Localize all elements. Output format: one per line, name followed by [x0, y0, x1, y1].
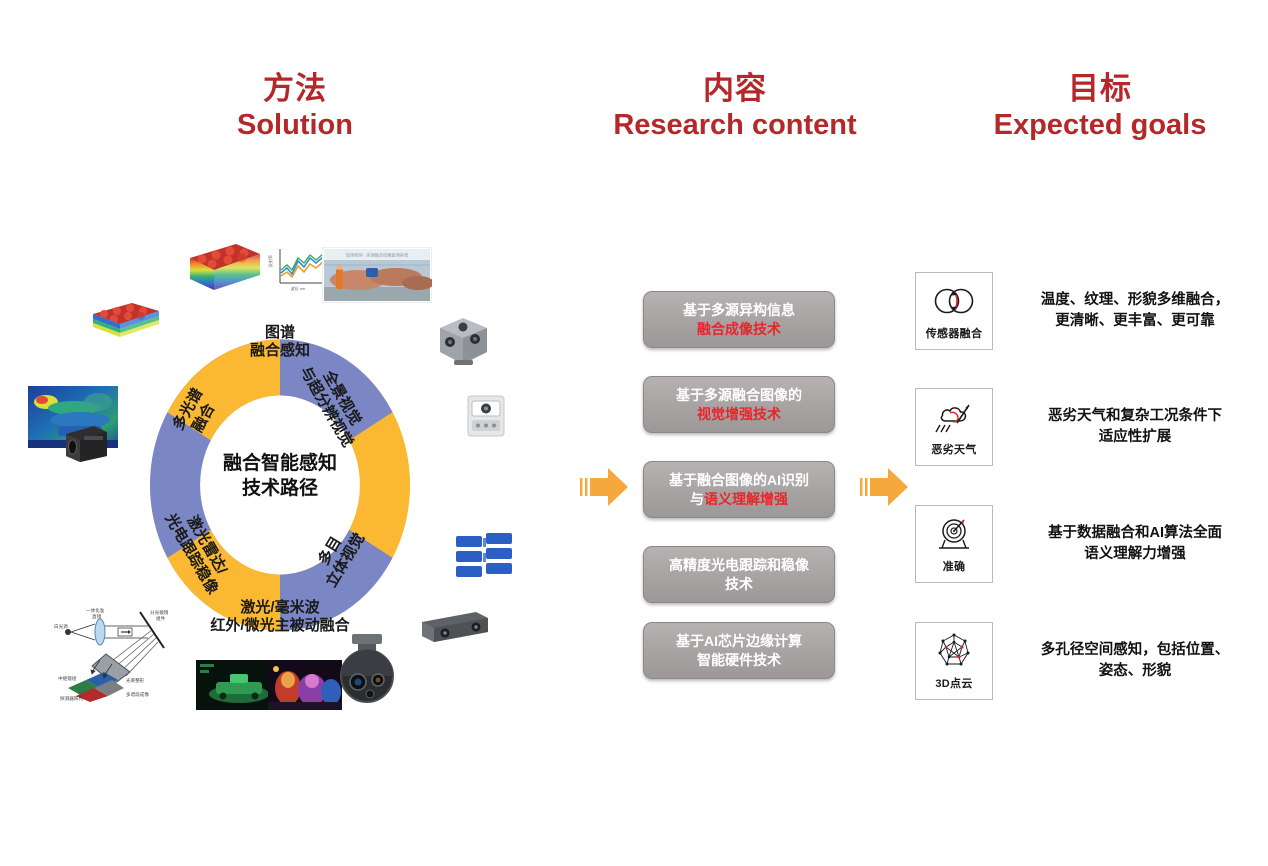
column-header-content-en: Research content — [600, 109, 870, 141]
column-header-content-cn: 内容 — [600, 72, 870, 107]
column-header-solution: 方法 Solution — [175, 72, 415, 141]
accuracy-target-icon — [933, 514, 975, 554]
column-header-solution-en: Solution — [175, 109, 415, 141]
research-box-4-line2: 技术 — [669, 575, 809, 593]
svg-text:中继镜组: 中继镜组 — [58, 675, 77, 682]
research-box-1[interactable]: 基于多源异构信息 融合成像技术 — [643, 291, 835, 348]
research-box-3-line2-highlight: 语义理解增强 — [704, 491, 788, 507]
research-box-1-line1: 基于多源异构信息 — [683, 301, 795, 319]
goal-card-accuracy[interactable]: 准确 — [915, 505, 993, 583]
research-box-3-line2: 与语义理解增强 — [669, 490, 809, 508]
hyperspectral-datacube-thumb — [186, 238, 264, 296]
goal-text-4: 多孔径空间感知，包括位置、 姿态、形貌 — [1019, 640, 1251, 682]
goal-text-3: 基于数据融合和AI算法全面 语义理解力增强 — [1019, 523, 1251, 565]
research-box-2-line2: 视觉增强技术 — [676, 405, 802, 423]
research-box-2-line1: 基于多源融合图像的 — [676, 386, 802, 404]
goal-card-3-caption: 准确 — [943, 558, 966, 574]
column-header-goals-en: Expected goals — [960, 109, 1240, 141]
point-cloud-icon — [934, 631, 974, 671]
wheel-label-top: 图谱 融合感知 — [190, 324, 370, 359]
sensor-fusion-icon — [932, 281, 976, 321]
blue-structured-light-thumb — [452, 528, 524, 586]
goal-card-4-caption: 3D点云 — [935, 675, 972, 691]
research-box-5[interactable]: 基于AI芯片边缘计算 智能硬件技术 — [643, 622, 835, 679]
goal-card-sensor-fusion[interactable]: 传感器融合 — [915, 272, 993, 350]
svg-text:直镜: 直镜 — [92, 613, 102, 620]
goal-row-3: 准确 基于数据融合和AI算法全面 语义理解力增强 — [915, 505, 1251, 583]
research-box-3[interactable]: 基于融合图像的AI识别 与语义理解增强 — [643, 461, 835, 518]
research-box-1-line2: 融合成像技术 — [683, 320, 795, 338]
goal-card-point-cloud[interactable]: 3D点云 — [915, 622, 993, 700]
research-box-5-line2: 智能硬件技术 — [676, 651, 802, 669]
technology-path-wheel: 图谱 融合感知 全景视觉 与超分辨视觉 多目 立体视觉 激光/毫米波 红外/微光… — [128, 300, 432, 670]
panoramic-multicamera-thumb — [430, 310, 496, 372]
goal-row-2: 恶劣天气 恶劣天气和复杂工况条件下 适应性扩展 — [915, 388, 1251, 466]
goal-row-4: 3D点云 多孔径空间感知，包括位置、 姿态、形貌 — [915, 622, 1251, 700]
svg-text:多谱段成像: 多谱段成像 — [126, 691, 149, 698]
column-header-solution-cn: 方法 — [175, 72, 415, 107]
bad-weather-icon — [932, 397, 976, 437]
svg-text:现场检测 · 多源融合成像监测系统: 现场检测 · 多源融合成像监测系统 — [346, 252, 408, 259]
camera-module-thumb — [60, 420, 112, 466]
goal-card-1-caption: 传感器融合 — [926, 325, 983, 341]
arrow-solution-to-content — [576, 462, 632, 517]
industrial-pipeline-photo-thumb: 现场检测 · 多源融合成像监测系统 — [322, 247, 432, 303]
goal-text-2: 恶劣天气和复杂工况条件下 适应性扩展 — [1019, 406, 1251, 448]
svg-text:反射率: 反射率 — [268, 255, 273, 267]
svg-text:光束整形: 光束整形 — [126, 677, 145, 684]
diagram-canvas: 方法 Solution 内容 Research content 目标 Expec… — [0, 0, 1268, 866]
svg-text:波长 nm: 波长 nm — [291, 285, 306, 291]
column-header-goals: 目标 Expected goals — [960, 72, 1240, 141]
research-box-2[interactable]: 基于多源融合图像的 视觉增强技术 — [643, 376, 835, 433]
goal-text-1: 温度、纹理、形貌多维融合， 更清晰、更丰富、更可靠 — [1019, 290, 1251, 332]
goal-row-1: 传感器融合 温度、纹理、形貌多维融合， 更清晰、更丰富、更可靠 — [915, 272, 1251, 350]
research-box-3-line2-prefix: 与 — [690, 491, 704, 507]
svg-text:一体化准: 一体化准 — [86, 607, 105, 614]
wheel-label-bottom: 激光/毫米波 红外/微光主被动融合 — [140, 599, 420, 634]
wheel-center-title: 融合智能感知 技术路径 — [190, 452, 370, 501]
goal-card-2-caption: 恶劣天气 — [931, 441, 976, 457]
column-header-content: 内容 Research content — [600, 72, 870, 141]
column-header-goals-cn: 目标 — [960, 72, 1240, 107]
research-box-4-line1: 高精度光电跟踪和稳像 — [669, 556, 809, 574]
research-box-4[interactable]: 高精度光电跟踪和稳像 技术 — [643, 546, 835, 603]
goal-card-bad-weather[interactable]: 恶劣天气 — [915, 388, 993, 466]
arrow-content-to-goals — [856, 462, 912, 517]
measuring-instrument-thumb — [462, 390, 510, 442]
research-box-3-line1: 基于融合图像的AI识别 — [669, 471, 809, 489]
svg-text:白光源: 白光源 — [54, 623, 68, 630]
spectral-curve-plot-thumb: 反射率 波长 nm — [268, 243, 328, 293]
svg-text:探测器阵列: 探测器阵列 — [60, 695, 83, 702]
research-box-5-line1: 基于AI芯片边缘计算 — [676, 632, 802, 650]
